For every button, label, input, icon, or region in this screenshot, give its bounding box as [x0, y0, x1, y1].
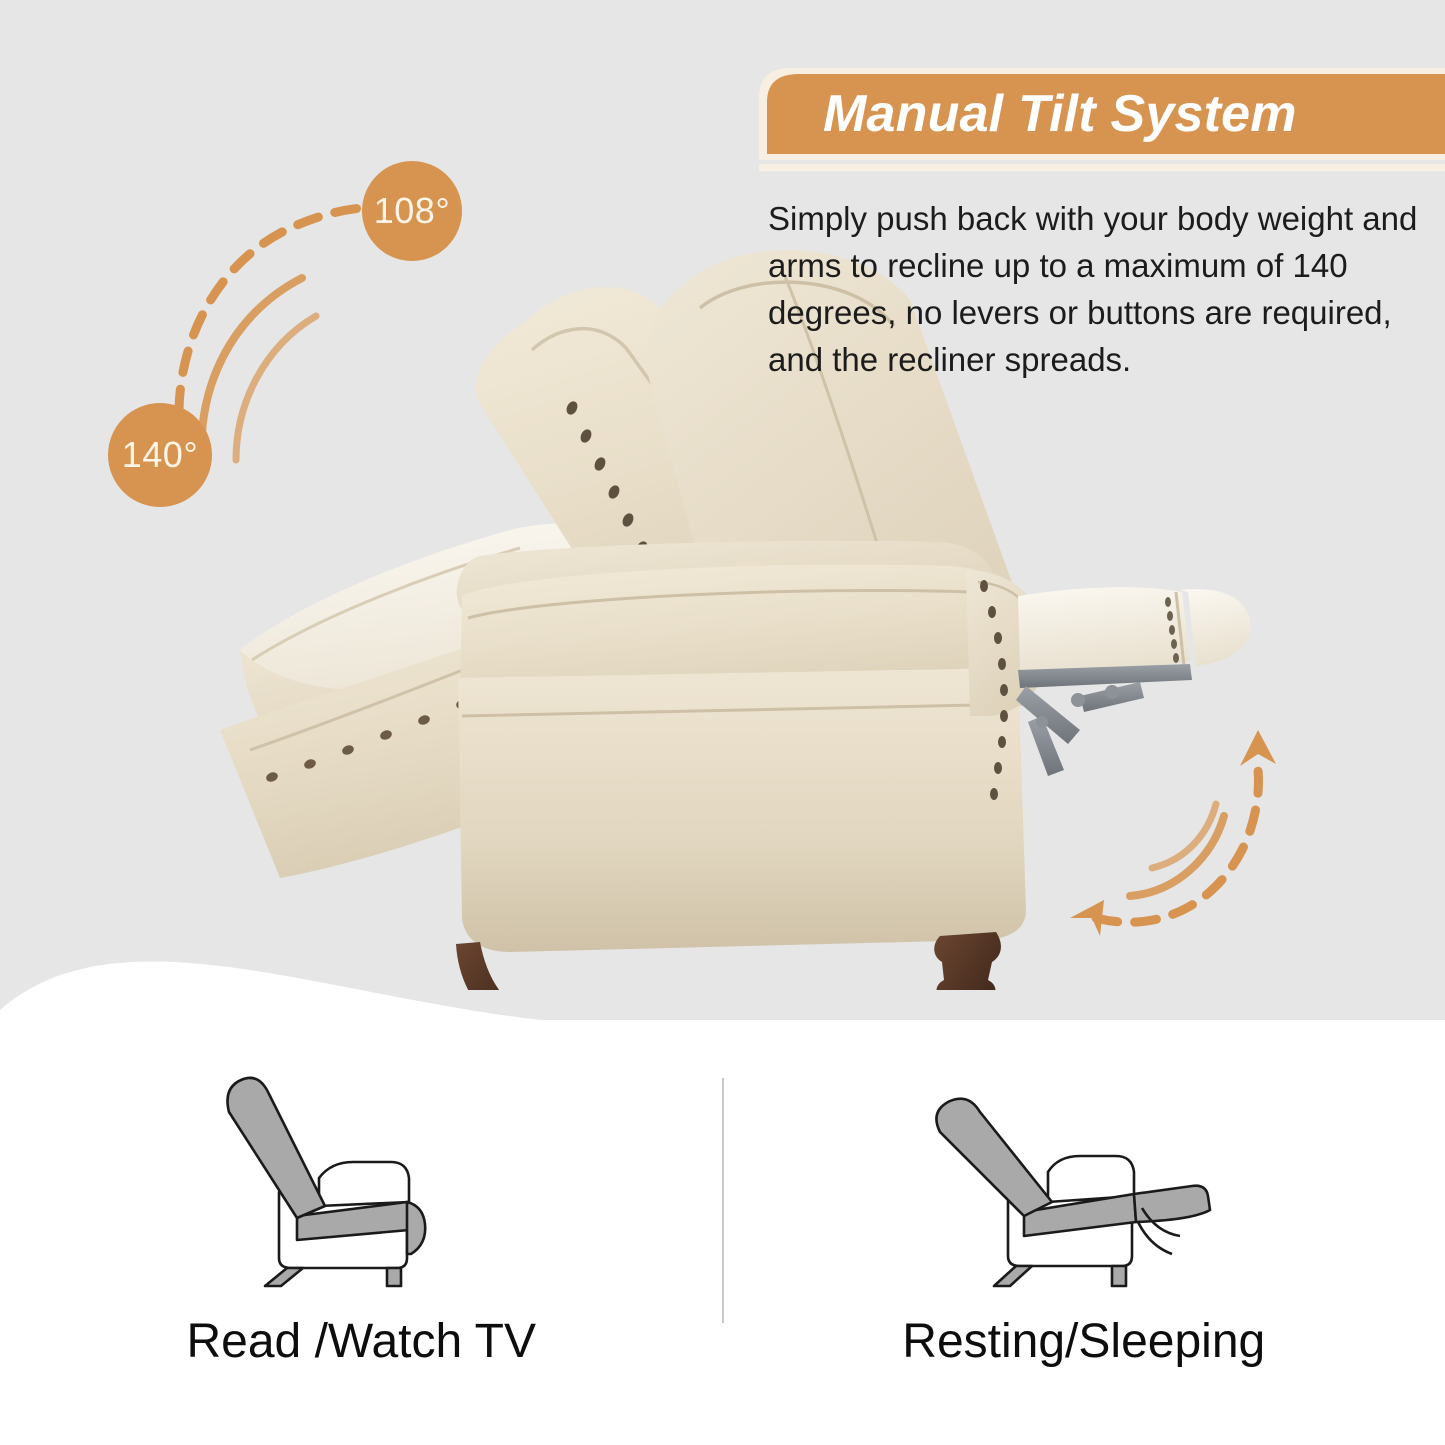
angle-badge-108: 108°: [362, 161, 462, 261]
title-banner: Manual Tilt System: [745, 68, 1445, 176]
footrest-extended: [1018, 587, 1251, 674]
banner-title: Manual Tilt System: [823, 68, 1429, 160]
hero-section: Manual Tilt System Simply push back with…: [0, 0, 1445, 1090]
infographic-canvas: Manual Tilt System Simply push back with…: [0, 0, 1445, 1445]
mode-resting-sleeping: Resting/Sleeping: [723, 1020, 1445, 1445]
footrest-arc-arrow: [1000, 700, 1300, 960]
mode-label: Read /Watch TV: [187, 1314, 536, 1369]
chair-body: [458, 564, 1047, 952]
mode-label: Resting/Sleeping: [902, 1314, 1265, 1369]
recliner-reclined-icon: [924, 1060, 1244, 1290]
modes-section: Read /Watch TV: [0, 1020, 1445, 1445]
angle-badge-140: 140°: [108, 403, 212, 507]
recliner-upright-icon: [201, 1060, 521, 1290]
mode-read-watch-tv: Read /Watch TV: [0, 1020, 723, 1445]
description-text: Simply push back with your body weight a…: [768, 196, 1418, 383]
